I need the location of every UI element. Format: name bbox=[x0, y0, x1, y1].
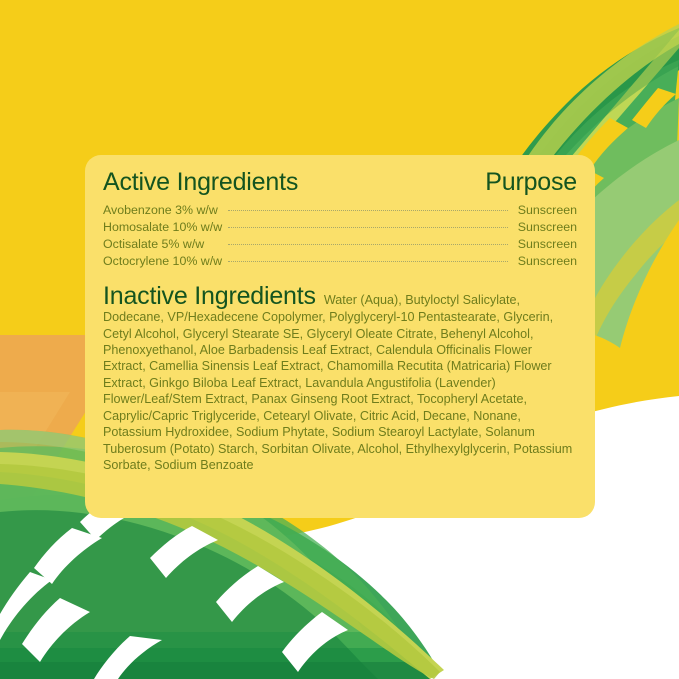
leader-dots bbox=[228, 203, 508, 220]
leader-dots bbox=[228, 220, 508, 237]
inactive-ingredients-section: Inactive IngredientsWater (Aqua), Butylo… bbox=[103, 283, 577, 473]
inactive-ingredients-text: Water (Aqua), Butyloctyl Salicylate, Dod… bbox=[103, 293, 572, 472]
leader-dots bbox=[228, 254, 508, 271]
table-row: Octisalate 5% w/w Sunscreen bbox=[103, 237, 577, 254]
ingredients-panel-page: Active Ingredients Purpose Avobenzone 3%… bbox=[0, 0, 679, 679]
ingredient-purpose: Sunscreen bbox=[508, 237, 577, 254]
purpose-column-title: Purpose bbox=[485, 169, 577, 195]
inactive-ingredients-title: Inactive Ingredients bbox=[103, 282, 316, 310]
leader-dots bbox=[228, 237, 508, 254]
table-row: Homosalate 10% w/w Sunscreen bbox=[103, 220, 577, 237]
active-ingredients-table: Avobenzone 3% w/w Sunscreen Homosalate 1… bbox=[103, 203, 577, 271]
ingredient-purpose: Sunscreen bbox=[508, 220, 577, 237]
active-ingredients-title: Active Ingredients bbox=[103, 169, 298, 195]
ingredient-name: Homosalate 10% w/w bbox=[103, 220, 228, 237]
ingredients-card: Active Ingredients Purpose Avobenzone 3%… bbox=[85, 155, 595, 518]
table-row: Octocrylene 10% w/w Sunscreen bbox=[103, 254, 577, 271]
ingredient-name: Avobenzone 3% w/w bbox=[103, 203, 228, 220]
ingredient-purpose: Sunscreen bbox=[508, 254, 577, 271]
active-ingredients-rows: Avobenzone 3% w/w Sunscreen Homosalate 1… bbox=[103, 203, 577, 271]
active-ingredients-header: Active Ingredients Purpose bbox=[103, 169, 577, 195]
ingredient-purpose: Sunscreen bbox=[508, 203, 577, 220]
ingredient-name: Octisalate 5% w/w bbox=[103, 237, 228, 254]
ingredient-name: Octocrylene 10% w/w bbox=[103, 254, 228, 271]
table-row: Avobenzone 3% w/w Sunscreen bbox=[103, 203, 577, 220]
